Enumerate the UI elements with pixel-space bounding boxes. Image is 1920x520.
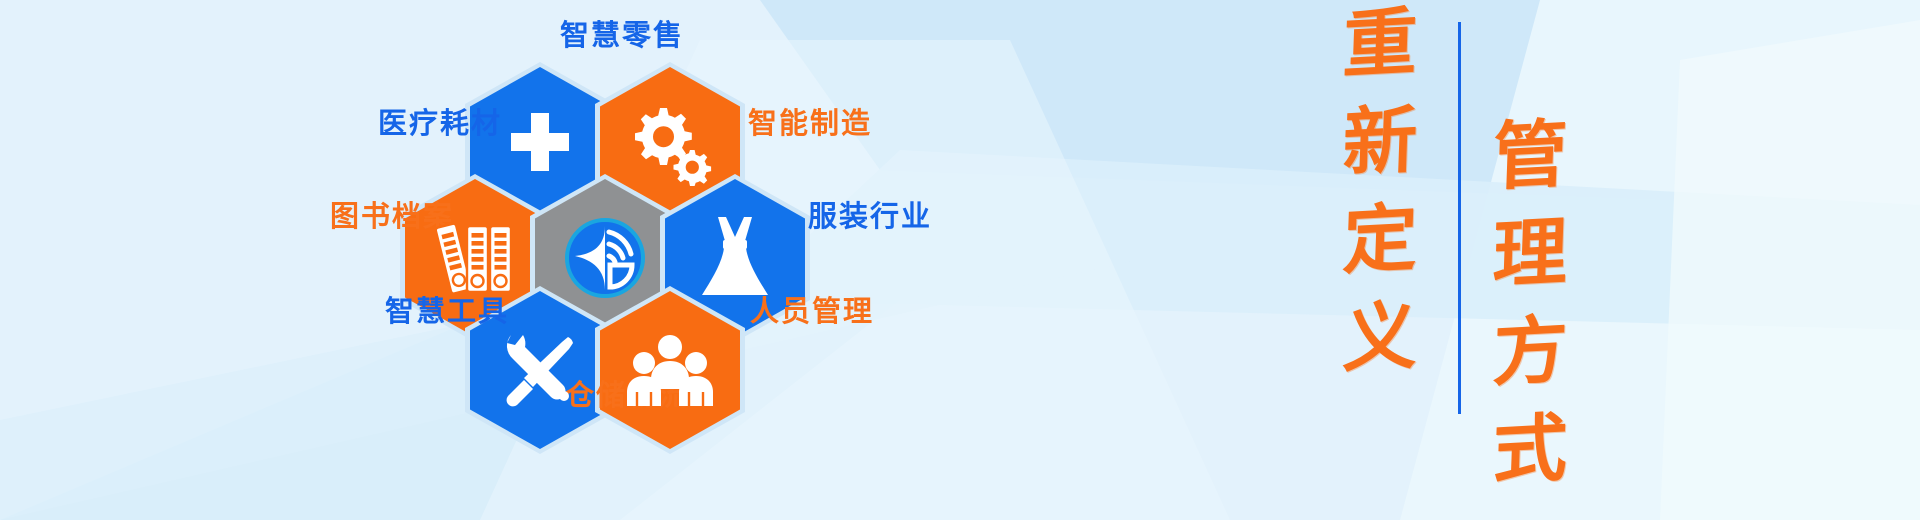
label-medical-consumables: 医疗耗材	[378, 100, 502, 142]
headline-right-column: 管 理 方 式	[1470, 0, 1590, 520]
headline-char: 重	[1342, 6, 1419, 84]
wrench-screwdriver-icon	[498, 328, 582, 412]
headline-char: 理	[1492, 216, 1569, 294]
hex-staff-management[interactable]	[595, 286, 745, 454]
headline-char: 定	[1342, 202, 1419, 280]
headline-char: 义	[1342, 300, 1419, 378]
headline-block: 重 新 定 义 管 理 方 式	[1290, 0, 1690, 520]
bg-shape-far-right	[1660, 20, 1920, 520]
label-apparel-industry: 服装行业	[808, 193, 932, 235]
headline-char: 新	[1342, 104, 1419, 182]
label-smart-retail: 智慧零售	[560, 12, 684, 54]
headline-divider	[1458, 22, 1461, 414]
label-smart-manufacturing: 智能制造	[748, 100, 872, 142]
company-logo-icon	[563, 216, 647, 300]
dress-icon	[698, 215, 772, 301]
headline-left-column: 重 新 定 义	[1320, 0, 1440, 520]
medical-cross-icon	[503, 109, 577, 183]
banner-canvas: 智慧零售 医疗耗材 智能制造 图书档案 服装行业 智慧工具 人员管理 仓储物流 …	[0, 0, 1920, 520]
headline-char: 管	[1492, 118, 1569, 196]
people-group-icon	[627, 334, 713, 406]
headline-char: 式	[1492, 412, 1569, 490]
binders-icon	[435, 220, 515, 296]
headline-char: 方	[1492, 314, 1569, 392]
gears-icon	[627, 106, 713, 186]
